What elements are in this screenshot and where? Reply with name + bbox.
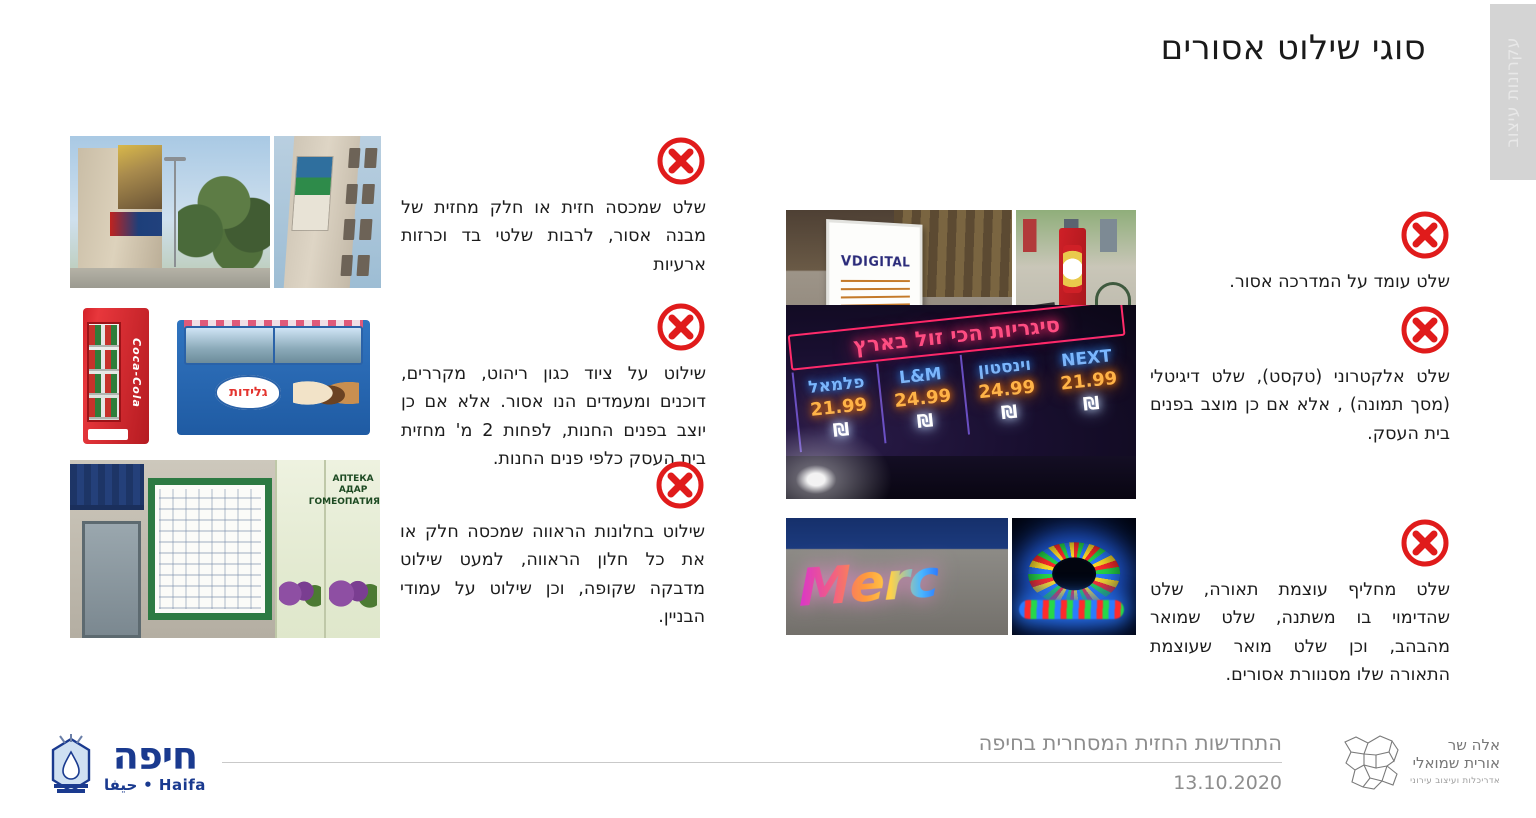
footer-divider — [222, 762, 1282, 763]
prohibited-x-icon — [656, 136, 706, 186]
prohibited-x-icon — [655, 460, 705, 510]
network-pattern-logo-icon — [1342, 732, 1400, 790]
rule-photos: АПТЕКА АДАР ГОМЕОПАТИЯ חלון ראווה מכוסה … — [70, 460, 380, 638]
cluttered-shop-window-photo: АПТЕКА АДАР ГОМЕОПАТИЯ חלון ראווה מכוסה … — [70, 460, 380, 638]
credit-name-secondary: אורית שמואלי — [1410, 754, 1500, 772]
rule-photos: סיגריות הכי זול בארץ פלמאל 21.99 ₪ L&M 2… — [786, 305, 1136, 499]
coca-cola-cooler-photo: Coca-Cola מקרר משקאות ממותג — [70, 302, 162, 450]
credit-block: אלה שר אורית שמואלי אדריכלות ועיצוב עירו… — [1342, 732, 1500, 790]
rule-text: שלט מחליף עוצמת תאורה, שלט שהדימוי בו מש… — [1150, 576, 1450, 689]
haifa-logo-latin: Haifa • حيفا — [104, 778, 206, 793]
rule-text: שילוט על ציוד כגון ריהוט, מקררים, דוכנים… — [401, 360, 706, 473]
rule-text: שלט אלקטרוני (טקסט), שלט דיגיטלי (מסך תמ… — [1150, 363, 1450, 448]
rule-photos: גלידות מקרר גלידה ממותג Coca-Cola — [70, 302, 381, 450]
haifa-logo-hebrew: חיפה — [104, 737, 206, 775]
rules-column-left: מבנה מכוסה בשלט בד מבנה אבן עם כרזה ארעי… — [50, 130, 750, 670]
prohibited-x-icon — [1400, 210, 1450, 260]
prohibited-x-icon — [1400, 305, 1450, 355]
rule-photos: מבנה מכוסה בשלט בד מבנה אבן עם כרזה ארעי… — [70, 136, 381, 288]
photo-caption: מבנה אבן עם כרזה ארעית — [70, 136, 270, 288]
photo-caption: חלון ראווה מכוסה שילוט — [70, 460, 380, 638]
led-cigarette-price-sign-photo: סיגריות הכי זול בארץ פלמאל 21.99 ₪ L&M 2… — [786, 305, 1136, 499]
page-title: סוגי שילוט אסורים — [1161, 28, 1426, 68]
credit-name-primary: אלה שר — [1410, 736, 1500, 754]
ice-cream-freezer-photo: גלידות מקרר גלידה ממותג — [166, 302, 381, 450]
credit-role: אדריכלות ועיצוב עירוני — [1410, 776, 1500, 786]
photo-caption: גליל לד צבעוני — [1012, 518, 1136, 635]
rule-text: שילוט בחלונות הראווה שמכסה חלק או את כל … — [400, 518, 705, 631]
photo-caption: מבנה מכוסה בשלט בד — [274, 136, 381, 288]
rule-photos: גליל לד צבעוני Merc אותיות מוארות MERC — [786, 518, 1136, 635]
section-tab[interactable]: עקרונות עיצוב — [1490, 4, 1536, 180]
rule-row: АПТЕКА АДАР ГОМЕОПАТИЯ חלון ראווה מכוסה … — [70, 460, 750, 638]
photo-caption: שלט LED מחירי סיגריות — [786, 305, 1136, 499]
rules-column-right: שלט עומד אדום על המדרכה עם אופניים VDIGI… — [786, 130, 1486, 670]
building-covered-banner-photo-2: מבנה אבן עם כרזה ארעית — [70, 136, 270, 288]
illuminated-channel-letters-photo: Merc אותיות מוארות MERC — [786, 518, 1008, 635]
photo-caption: מקרר גלידה ממותג — [166, 302, 381, 450]
photo-caption: מקרר משקאות ממותג — [70, 302, 162, 450]
rule-row: סיגריות הכי זול בארץ פלמאל 21.99 ₪ L&M 2… — [786, 305, 1486, 499]
photo-caption: אותיות מוארות MERC — [786, 518, 1008, 635]
haifa-crest-icon — [48, 734, 94, 796]
haifa-municipality-logo: חיפה Haifa • حيفا — [48, 734, 206, 796]
rule-text: שלט שמכסה חזית או חלק מחזית של מבנה אסור… — [401, 194, 706, 279]
section-tab-label: עקרונות עיצוב — [1503, 37, 1523, 147]
prohibited-x-icon — [656, 302, 706, 352]
building-covered-banner-photo-1: מבנה מכוסה בשלט בד — [274, 136, 381, 288]
slide-footer: חיפה Haifa • حيفا התחדשות החזית המסחרית … — [0, 708, 1536, 818]
rule-text: שלט עומד על המדרכה אסור. — [1150, 268, 1450, 296]
rule-row: גליל לד צבעוני Merc אותיות מוארות MERC ש… — [786, 518, 1486, 689]
prohibited-x-icon — [1400, 518, 1450, 568]
footer-caption-block: התחדשות החזית המסחרית בחיפה 13.10.2020 — [222, 731, 1282, 794]
rule-row: גלידות מקרר גלידה ממותג Coca-Cola — [70, 302, 750, 473]
footer-title: התחדשות החזית המסחרית בחיפה — [222, 731, 1282, 755]
rule-row: מבנה מכוסה בשלט בד מבנה אבן עם כרזה ארעי… — [70, 136, 750, 288]
footer-date: 13.10.2020 — [222, 772, 1282, 794]
rgb-led-strip-roll-photo: גליל לד צבעוני — [1012, 518, 1136, 635]
slide-canvas: עקרונות עיצוב סוגי שילוט אסורים שלט עומד… — [0, 0, 1536, 818]
